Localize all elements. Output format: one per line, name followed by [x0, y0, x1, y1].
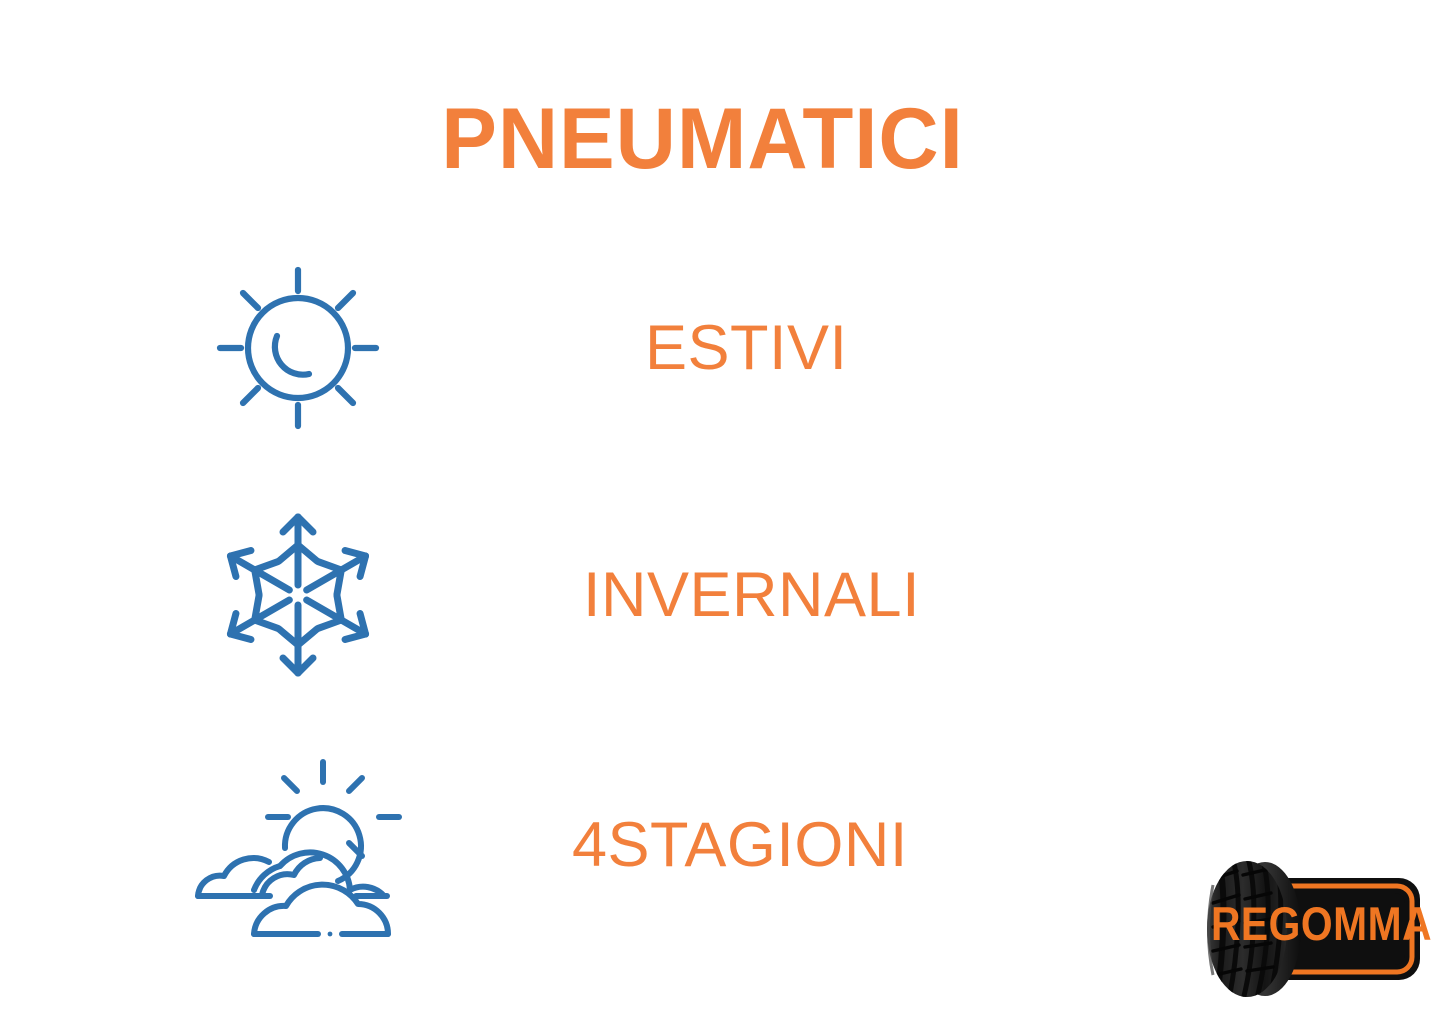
- regomma-logo[interactable]: REGOMMA: [1193, 855, 1431, 1003]
- snowflake-icon: [188, 495, 408, 695]
- poster-canvas: PNEUMATICI: [0, 0, 1445, 1022]
- tire-type-label-winter: INVERNALI: [583, 495, 920, 695]
- logo-brand-text: REGOMMA: [1211, 898, 1431, 950]
- tire-type-row-winter: INVERNALI: [0, 495, 1445, 695]
- tire-type-label-summer: ESTIVI: [645, 248, 848, 448]
- tire-type-label-allseason: 4STAGIONI: [572, 745, 908, 945]
- sun-icon: [188, 248, 408, 448]
- page-title: PNEUMATICI: [2, 96, 1404, 182]
- tire-type-row-summer: ESTIVI: [0, 248, 1445, 448]
- sun-behind-clouds-icon: [188, 745, 408, 945]
